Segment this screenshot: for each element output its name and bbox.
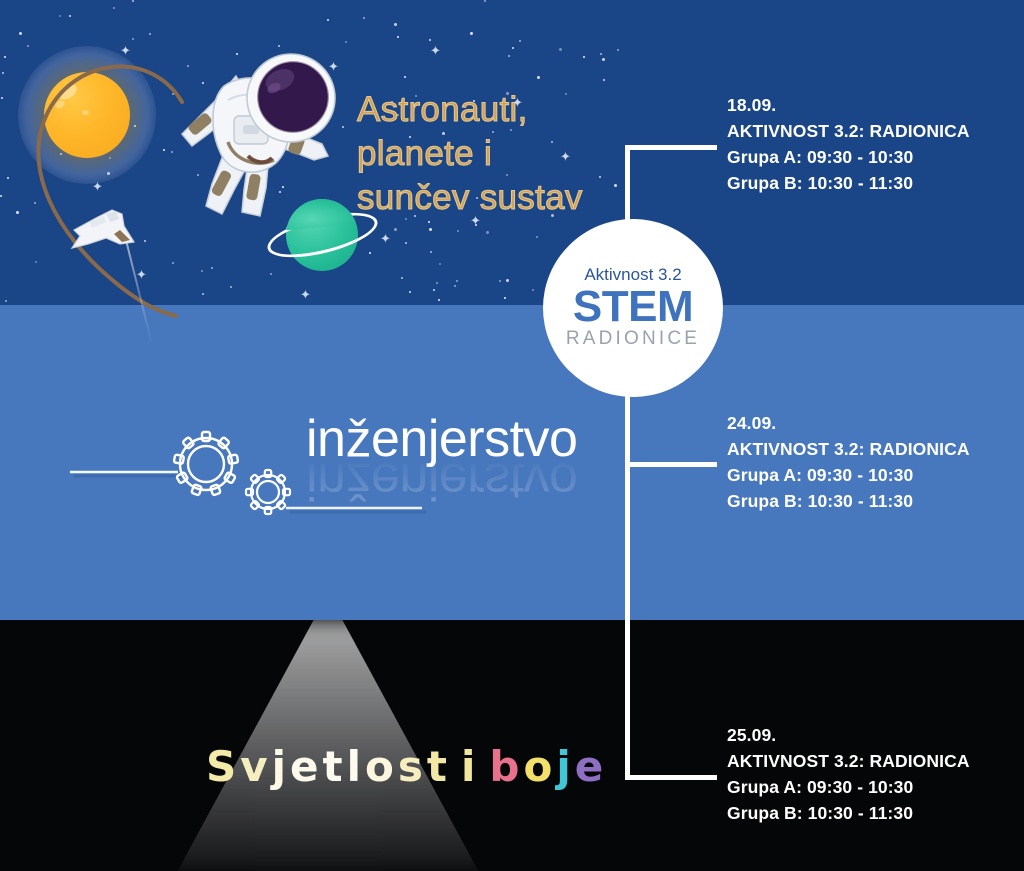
space-heading-line-3: sunčev sustav xyxy=(357,176,657,220)
timeline-branch-2 xyxy=(625,462,717,467)
star-icon xyxy=(456,280,458,282)
light-heading-letter: o xyxy=(365,742,398,791)
timeline-branch-3 xyxy=(625,775,717,780)
space-shuttle-icon xyxy=(66,198,142,264)
event-1-title: AKTIVNOST 3.2: RADIONICA xyxy=(727,118,1019,144)
light-heading-letter: t xyxy=(323,742,347,791)
timeline-event-2: 24.09. AKTIVNOST 3.2: RADIONICA Grupa A:… xyxy=(727,410,1019,514)
event-2-group-a: Grupa A: 09:30 - 10:30 xyxy=(727,462,1019,488)
light-heading-letter xyxy=(451,742,461,791)
star-icon xyxy=(428,221,430,223)
star-icon xyxy=(504,297,506,299)
light-heading-letter xyxy=(479,742,489,791)
star-icon xyxy=(602,58,605,61)
badge-title-label: STEM xyxy=(573,285,693,330)
star-icon xyxy=(603,79,605,81)
star-icon xyxy=(486,231,489,234)
light-heading-letter: e xyxy=(290,742,323,791)
star-icon xyxy=(470,32,473,35)
light-heading-letter: i xyxy=(461,742,479,791)
stem-workshop-poster: ✦✦✦✦✦✦✦✦✦✦✦ xyxy=(0,0,1024,871)
light-heading-letter: e xyxy=(575,742,608,791)
event-2-group-b: Grupa B: 10:30 - 11:30 xyxy=(727,488,1019,514)
star-icon xyxy=(454,285,456,287)
star-icon xyxy=(617,49,619,51)
timeline-branch-1 xyxy=(625,145,717,150)
light-heading-letter: S xyxy=(206,742,240,791)
light-heading-letter: o xyxy=(523,742,556,791)
space-heading-line-2: planete i xyxy=(357,132,657,176)
timeline-line-segment-2 xyxy=(625,390,630,780)
event-3-group-a: Grupa A: 09:30 - 10:30 xyxy=(727,774,1019,800)
light-heading-letter: t xyxy=(427,742,451,791)
space-heading-line-1: Astronauti, xyxy=(357,88,657,132)
timeline-event-3: 25.09. AKTIVNOST 3.2: RADIONICA Grupa A:… xyxy=(727,722,1019,826)
star-icon xyxy=(394,228,397,231)
event-2-title: AKTIVNOST 3.2: RADIONICA xyxy=(727,436,1019,462)
light-heading-letter: v xyxy=(240,742,271,791)
star-icon xyxy=(113,7,115,9)
star-icon xyxy=(600,53,602,55)
star-icon xyxy=(559,48,562,51)
star-icon xyxy=(457,230,459,232)
light-heading-letter: l xyxy=(347,742,365,791)
event-3-title: AKTIVNOST 3.2: RADIONICA xyxy=(727,748,1019,774)
stem-badge: Aktivnost 3.2 STEM RADIONICE xyxy=(543,219,723,397)
star-icon xyxy=(363,17,365,19)
timeline-line-segment-1 xyxy=(625,145,630,225)
star-icon xyxy=(436,282,438,284)
star-icon xyxy=(537,76,540,79)
event-1-date: 18.09. xyxy=(727,92,1019,118)
star-icon xyxy=(394,23,397,26)
star-sparkle-icon: ✦ xyxy=(380,232,391,245)
event-3-date: 25.09. xyxy=(727,722,1019,748)
engineering-heading: inženjerstvo xyxy=(306,413,577,465)
event-2-date: 24.09. xyxy=(727,410,1019,436)
light-heading-letter: j xyxy=(272,742,290,791)
astronaut-icon xyxy=(152,38,342,218)
light-heading-letter: j xyxy=(556,742,574,791)
star-sparkle-icon: ✦ xyxy=(430,44,441,57)
badge-subtitle-label: RADIONICE xyxy=(566,329,700,350)
event-3-group-b: Grupa B: 10:30 - 11:30 xyxy=(727,800,1019,826)
event-1-group-a: Grupa A: 09:30 - 10:30 xyxy=(727,144,1019,170)
timeline-event-1: 18.09. AKTIVNOST 3.2: RADIONICA Grupa A:… xyxy=(727,92,1019,196)
star-icon xyxy=(438,299,440,301)
light-heading-letter: b xyxy=(489,742,523,791)
event-1-group-b: Grupa B: 10:30 - 11:30 xyxy=(727,170,1019,196)
light-heading-letter: s xyxy=(398,742,427,791)
space-section-heading: Astronauti, planete i sunčev sustav xyxy=(357,88,657,220)
light-section-heading: Svjetlost i boje xyxy=(206,742,607,791)
